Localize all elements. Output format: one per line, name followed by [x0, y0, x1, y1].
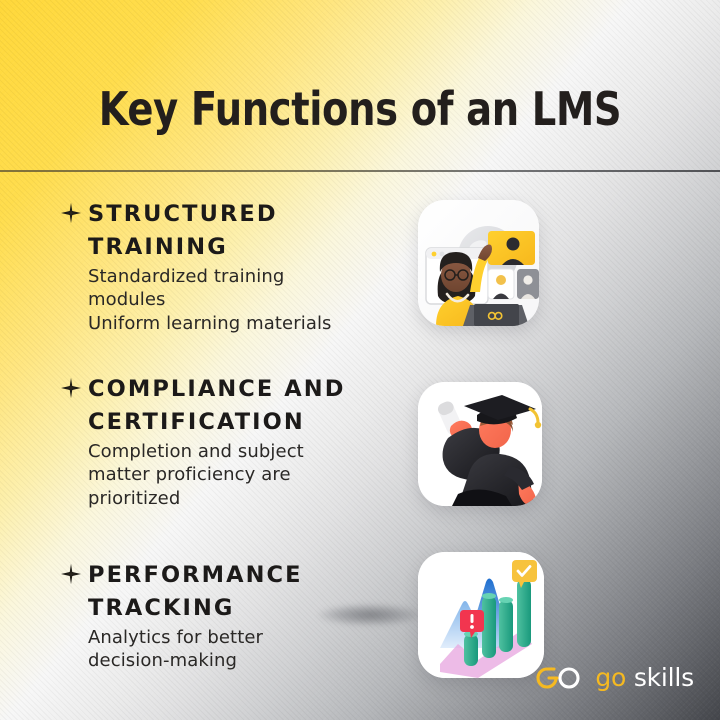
analytics-bar-chart-icon	[418, 552, 544, 678]
section-body: Analytics for better decision-making	[88, 626, 410, 674]
logo-text-go: go	[595, 663, 626, 692]
section-body: Standardized training modules Uniform le…	[88, 265, 410, 336]
sparkle-icon	[60, 563, 82, 585]
header-divider	[0, 170, 720, 172]
section-heading: STRUCTURED TRAINING	[88, 198, 410, 264]
sparkle-icon	[60, 202, 82, 224]
decorative-shadow-blob	[318, 604, 422, 626]
logo-wordmark: go skills	[595, 663, 694, 692]
infinity-loop-logo-icon	[536, 665, 584, 691]
section-body: Completion and subject matter proficienc…	[88, 440, 410, 511]
goskills-logo[interactable]: go skills	[536, 663, 694, 692]
sparkle-icon	[60, 377, 82, 399]
graduate-diploma-icon	[418, 382, 542, 506]
slide-canvas: Key Functions of an LMS STRUCTURED TRAIN…	[0, 0, 720, 720]
section-heading: COMPLIANCE AND CERTIFICATION	[88, 373, 410, 439]
logo-text-skills: skills	[626, 663, 694, 692]
page-title: Key Functions of an LMS	[25, 82, 695, 136]
virtual-classroom-video-call-icon	[418, 200, 539, 326]
